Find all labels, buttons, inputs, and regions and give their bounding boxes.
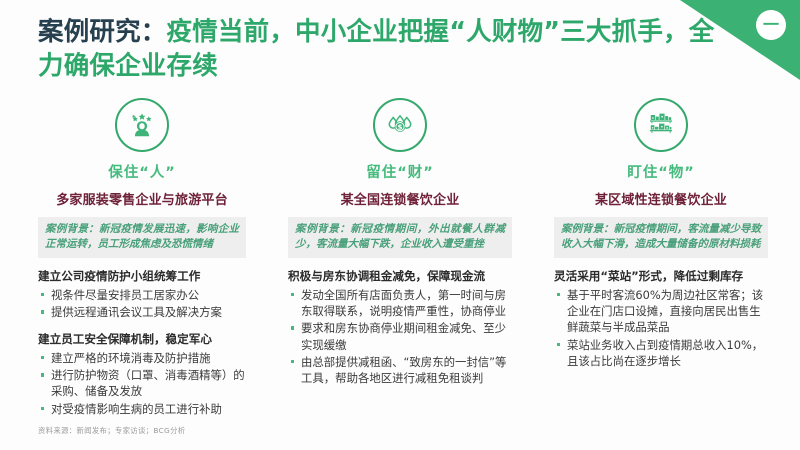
company-name: 某区域性连锁餐饮企业 xyxy=(554,189,768,208)
slide-root: 一 案例研究：疫情当前，中小企业把握“人财物”三大抓手，全力确保企业存续 xyxy=(0,0,800,450)
company-name: 某全国连锁餐饮企业 xyxy=(288,189,512,208)
slide-number-badge: 一 xyxy=(756,10,786,40)
columns-container: 保住“人” 多家服装零售企业与旅游平台 案例背景：新冠疫情发展迅速，影响企业正常… xyxy=(0,96,800,417)
list-item: 视条件尽量安排员工居家办公 xyxy=(38,287,246,303)
section-block: 建立公司疫情防护小组统筹工作 视条件尽量安排员工居家办公 提供远程通讯会议工具及… xyxy=(38,269,246,320)
svg-text:$: $ xyxy=(397,123,402,132)
section-heading: 灵活采用“菜站”形式，降低过剩库存 xyxy=(554,269,768,285)
section-heading: 建立公司疫情防护小组统筹工作 xyxy=(38,269,246,285)
bullet-list: 发动全国所有店面负责人，第一时间与房东取得联系，说明疫情严重性，协商停业 要求和… xyxy=(288,287,512,386)
list-item: 对受疫情影响生病的员工进行补助 xyxy=(38,401,246,417)
person-with-stars-icon xyxy=(115,98,169,152)
case-background-box: 案例背景：新冠疫情期间，外出就餐人群减少，客流量大幅下跌，企业收入遭受重挫 xyxy=(288,217,512,258)
column-money: $ 留住“财” 某全国连锁餐饮企业 案例背景：新冠疫情期间，外出就餐人群减少，客… xyxy=(266,96,532,417)
bullet-list: 基于平时客流60%为周边社区常客；该企业在门店口设摊，直接向居民出售生鲜蔬菜与半… xyxy=(554,287,768,369)
source-footnote: 资料来源：新闻发布；专家访谈；BCG分析 xyxy=(38,425,185,436)
bullet-list: 视条件尽量安排员工居家办公 提供远程通讯会议工具及解决方案 xyxy=(38,287,246,320)
section-block: 积极与房东协调租金减免，保障现金流 发动全国所有店面负责人，第一时间与房东取得联… xyxy=(288,269,512,386)
company-name: 多家服装零售企业与旅游平台 xyxy=(38,189,246,208)
bullet-list: 建立严格的环境消毒及防护措施 进行防护物资（口罩、消毒酒精等）的采购、储备及发放… xyxy=(38,350,246,417)
section-block: 建立员工安全保障机制，稳定军心 建立严格的环境消毒及防护措施 进行防护物资（口罩… xyxy=(38,332,246,416)
list-item: 基于平时客流60%为周边社区常客；该企业在门店口设摊，直接向居民出售生鲜蔬菜与半… xyxy=(554,287,768,336)
list-item: 菜站业务收入占到疫情期总收入10%，且该占比尚在逐步增长 xyxy=(554,337,768,369)
list-item: 发动全国所有店面负责人，第一时间与房东取得联系，说明疫情严重性，协商停业 xyxy=(288,287,512,319)
list-item: 要求和房东协商停业期间租金减免、至少实现缓缴 xyxy=(288,320,512,352)
warehouse-shelves-icon xyxy=(634,98,688,152)
water-drops-money-icon: $ xyxy=(373,98,427,152)
section-block: 灵活采用“菜站”形式，降低过剩库存 基于平时客流60%为周边社区常客；该企业在门… xyxy=(554,269,768,369)
section-heading: 积极与房东协调租金减免，保障现金流 xyxy=(288,269,512,285)
page-title: 案例研究：疫情当前，中小企业把握“人财物”三大抓手，全力确保企业存续 xyxy=(38,16,738,84)
case-background-box: 案例背景：新冠疫情发展迅速，影响企业正常运转，员工形成焦虑及恐慌情绪 xyxy=(38,217,246,258)
list-item: 建立严格的环境消毒及防护措施 xyxy=(38,350,246,366)
column-inventory: 盯住“物” 某区域性连锁餐饮企业 案例背景：新冠疫情期间，客流量减少导致收入大幅… xyxy=(532,96,798,417)
pillar-title: 保住“人” xyxy=(38,161,246,182)
page-title-lead: 案例研究： xyxy=(38,17,167,47)
list-item: 由总部提供减租函、“致房东的一封信”等工具，帮助各地区进行减租免租谈判 xyxy=(288,354,512,386)
pillar-title: 盯住“物” xyxy=(554,161,768,182)
column-people: 保住“人” 多家服装零售企业与旅游平台 案例背景：新冠疫情发展迅速，影响企业正常… xyxy=(0,96,266,417)
list-item: 进行防护物资（口罩、消毒酒精等）的采购、储备及发放 xyxy=(38,367,246,399)
case-background-box: 案例背景：新冠疫情期间，客流量减少导致收入大幅下滑，造成大量储备的原材料损耗 xyxy=(554,217,768,258)
list-item: 提供远程通讯会议工具及解决方案 xyxy=(38,304,246,320)
section-heading: 建立员工安全保障机制，稳定军心 xyxy=(38,332,246,348)
pillar-title: 留住“财” xyxy=(288,161,512,182)
